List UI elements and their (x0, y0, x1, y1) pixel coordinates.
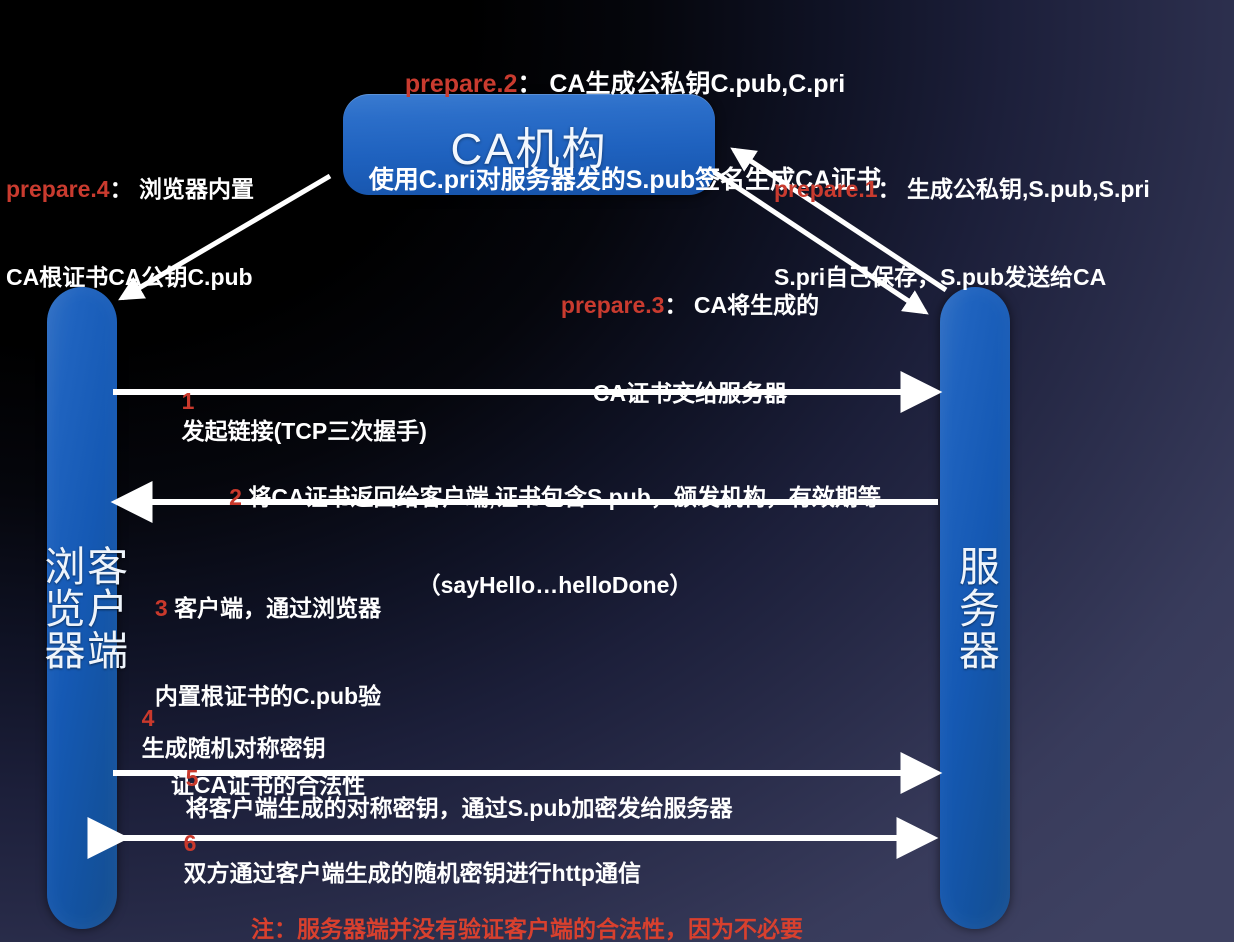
prepare-4-line-2: CA根证书CA公钥C.pub (6, 263, 336, 292)
prepare-3-tag: prepare.3 (561, 292, 665, 318)
footer-note-line-1: 注：服务器端并没有验证客户端的合法性，因为不必要 (112, 915, 942, 942)
prepare-3-line-1: CA将生成的 (694, 292, 819, 318)
footer-note: 注：服务器端并没有验证客户端的合法性，因为不必要 只有类似银行U盾之类才有必要验… (112, 856, 942, 942)
prepare-2-tag: prepare.2 (405, 70, 518, 98)
step-2-number: 2 (229, 484, 242, 510)
prepare-2-line-1: CA生成公私钥C.pub,C.pri (549, 70, 845, 98)
client-browser-label: 客户端 浏览器 (39, 545, 124, 671)
prepare-4-sep: ： (110, 176, 133, 202)
prepare-4-tag: prepare.4 (6, 176, 110, 202)
step-5-number: 5 (186, 765, 199, 791)
client-browser-node[interactable]: 客户端 浏览器 (47, 287, 117, 929)
step-6-number: 6 (184, 830, 197, 856)
step-2-line-1: 将CA证书返回给客户端,证书包含S.pub，颁发机构，有效期等 (248, 484, 881, 510)
prepare-1-line-1: 生成公私钥,S.pub,S.pri (907, 176, 1150, 202)
step-4-number: 4 (142, 705, 155, 731)
step-3-number: 3 (155, 595, 168, 621)
diagram-canvas: CA机构 客户端 浏览器 服务器 (0, 0, 1234, 942)
prepare-4-line-1: 浏览器内置 (139, 176, 254, 202)
prepare-2-sep: ： (517, 70, 542, 98)
prepare-1-tag: prepare.1 (774, 176, 878, 202)
prepare-3-sep: ： (664, 292, 687, 318)
prepare-3-line-2: CA证书交给服务器 (530, 379, 850, 408)
step-1-number: 1 (182, 388, 195, 414)
prepare-1-sep: ： (878, 176, 901, 202)
step-3-line-1: 客户端，通过浏览器 (174, 595, 381, 621)
prepare-4-text: prepare.4： 浏览器内置 CA根证书CA公钥C.pub (6, 116, 336, 352)
